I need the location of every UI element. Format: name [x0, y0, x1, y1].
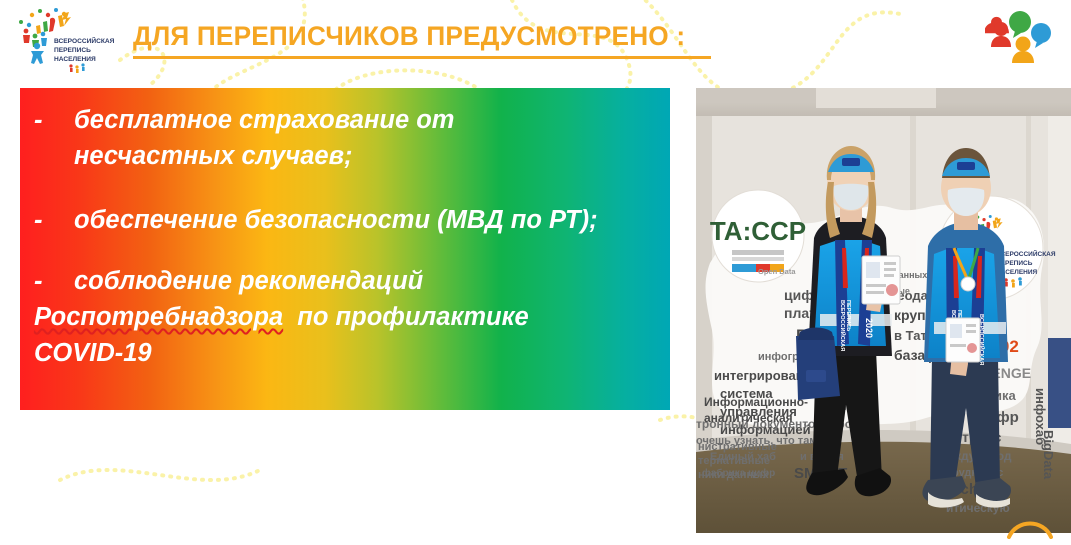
bullet-item-1: - бесплатное страхование от несчастных с… — [34, 102, 660, 174]
slide-root: ВСЕРОССИЙСКАЯ ПЕРЕПИСЬ НАСЕЛЕНИЯ — [0, 0, 1071, 545]
page-title-wrap: ДЛЯ ПЕРЕПИСЧИКОВ ПРЕДУСМОТРЕНО : — [133, 22, 702, 51]
orange-arc-decoration — [1007, 517, 1053, 539]
title-underline — [133, 56, 711, 59]
svg-text:ВСЕРОССИЙСКАЯ: ВСЕРОССИЙСКАЯ — [996, 249, 1056, 258]
bullet-marker: - — [34, 102, 74, 138]
svg-text:Информационно-: Информационно- — [704, 395, 808, 409]
spacer — [34, 239, 660, 263]
census-logo-line1: ВСЕРОССИЙСКАЯ — [54, 36, 115, 45]
bullet-item-3: - соблюдение рекомендаций — [34, 263, 660, 299]
svg-text:BigData: BigData — [1041, 430, 1056, 480]
svg-text:ПЕРЕПИСЬ: ПЕРЕПИСЬ — [845, 300, 851, 331]
svg-text:аналитическая: аналитическая — [704, 411, 793, 425]
tassr-wall-logo: TA:CCP — [710, 216, 806, 246]
bullet-line: COVID-19 — [34, 335, 660, 371]
misspelled-word: Роспотребнадзора — [34, 303, 283, 331]
bullet-line-misspelled: Роспотребнадзора по профилактике — [34, 299, 660, 335]
page-title: ДЛЯ ПЕРЕПИСЧИКОВ ПРЕДУСМОТРЕНО : — [133, 22, 685, 51]
two-census-takers-photo: TA:CCP источник открытых данных цифровая… — [696, 88, 1071, 533]
bullet-marker: - — [34, 202, 74, 238]
bullet-item-2: - обеспечение безопасности (МВД по РТ); — [34, 202, 660, 238]
bullet-line: несчастных случаев; — [74, 138, 660, 174]
bullet-line: обеспечение безопасности (МВД по РТ); — [74, 202, 660, 238]
svg-text:2020: 2020 — [864, 318, 874, 338]
census-logo-line3: НАСЕЛЕНИЯ — [54, 56, 96, 63]
svg-text:Единый хаб: Единый хаб — [710, 451, 776, 463]
bullet-marker: - — [34, 263, 74, 299]
benefits-panel: - бесплатное страхование от несчастных с… — [20, 88, 670, 410]
bullet-line: соблюдение рекомендаций — [74, 263, 660, 299]
people-bubbles-mark — [985, 6, 1057, 66]
bullet-line-rest: по профилактике — [283, 303, 529, 331]
svg-text:Open Data: Open Data — [758, 267, 796, 276]
census-logo-line2: ПЕРЕПИСЬ — [54, 47, 91, 54]
bullet-line: бесплатное страхование от — [74, 102, 660, 138]
spacer — [34, 174, 660, 202]
svg-text:очешь узнать, что там: очешь узнать, что там — [696, 435, 817, 447]
census-logo: ВСЕРОССИЙСКАЯ ПЕРЕПИСЬ НАСЕЛЕНИЯ — [10, 6, 120, 74]
svg-text:фабрика цифр: фабрика цифр — [702, 467, 775, 479]
